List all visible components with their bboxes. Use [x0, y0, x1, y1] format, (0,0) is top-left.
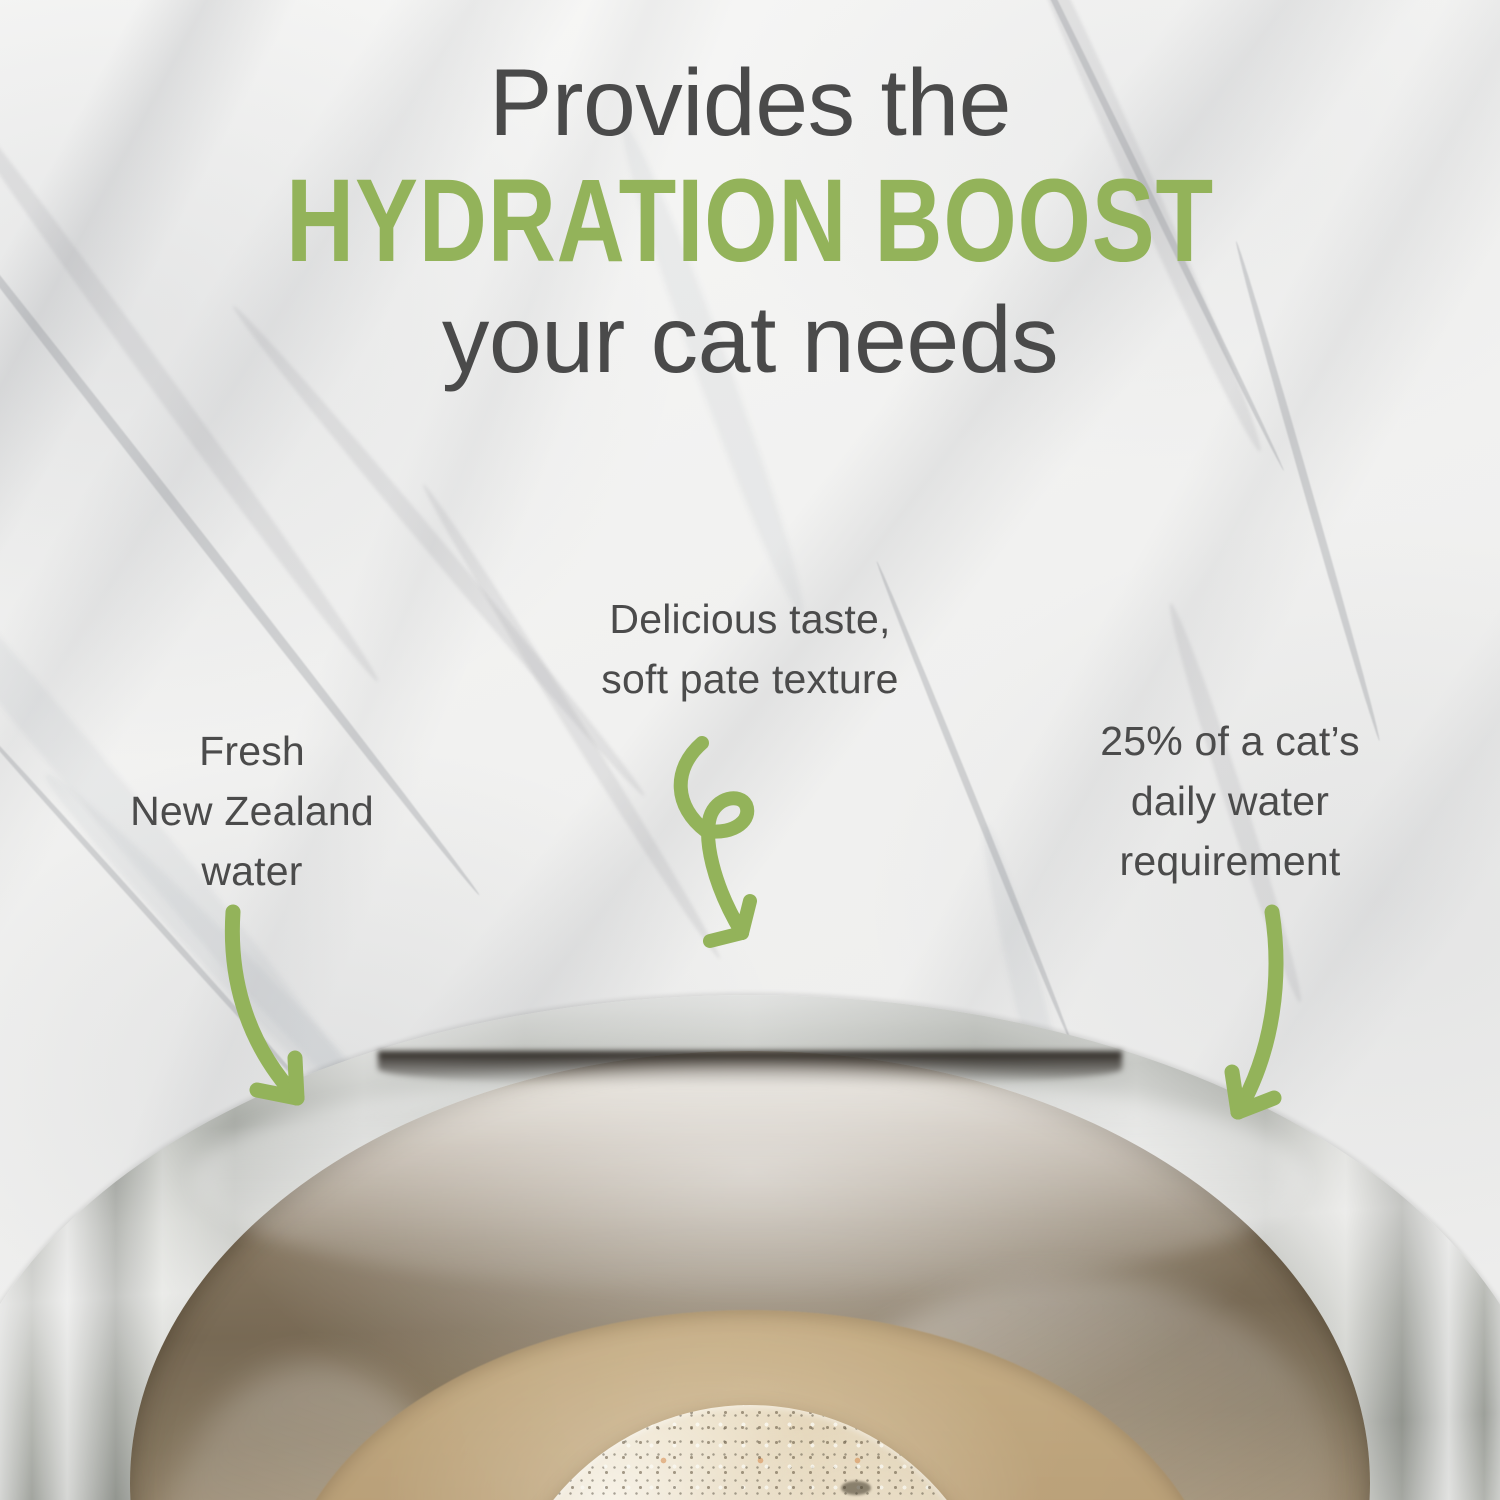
callout-center-line-1: Delicious taste,: [520, 590, 980, 650]
headline-line-1: Provides the: [0, 56, 1500, 151]
infographic-canvas: Provides the HYDRATION BOOST your cat ne…: [0, 0, 1500, 1500]
headline-block: Provides the HYDRATION BOOST your cat ne…: [0, 56, 1500, 388]
curved-arrow-down-right-icon: [185, 900, 355, 1135]
callout-center-line-2: soft pate texture: [520, 650, 980, 710]
callout-right-text: 25% of a cat’s daily water requirement: [1030, 712, 1430, 892]
callout-left-line-1: Fresh: [62, 722, 442, 782]
headline-line-2-hydration-boost: HYDRATION BOOST: [150, 155, 1350, 287]
callout-left-line-2: New Zealand: [62, 782, 442, 842]
callout-right-line-1: 25% of a cat’s: [1030, 712, 1430, 772]
bowl-inner-highlight: [192, 1068, 1308, 1293]
callout-left-text: Fresh New Zealand water: [62, 722, 442, 902]
callout-right-line-3: requirement: [1030, 832, 1430, 892]
callout-left-line-3: water: [62, 842, 442, 902]
callout-right-line-2: daily water: [1030, 772, 1430, 832]
headline-line-3: your cat needs: [0, 293, 1500, 388]
looped-arrow-down-icon: [650, 735, 810, 975]
callout-center-text: Delicious taste, soft pate texture: [520, 590, 980, 710]
curved-arrow-down-left-icon: [1200, 900, 1375, 1150]
